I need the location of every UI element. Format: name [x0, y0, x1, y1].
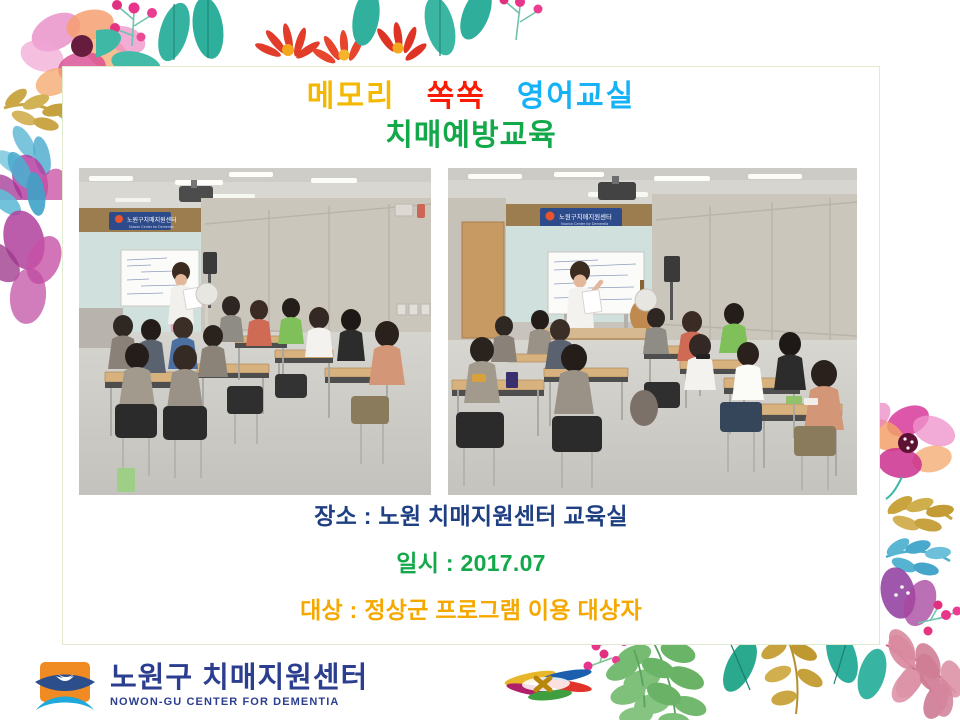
svg-text:Nowon Center for Dementia: Nowon Center for Dementia: [561, 222, 609, 226]
floral-decoration-top-band: [96, 0, 956, 72]
footer-logo: 노원구 치매지원센터 NOWON-GU CENTER FOR DEMENTIA: [34, 657, 368, 715]
classroom-photo-left-image: 노원구치매지원센터 Nowon Center for Dementia: [79, 168, 431, 495]
title-word-english-class: 영어교실: [517, 80, 635, 113]
classroom-photo-right-image: 노원구치매지원센터 Nowon Center for Dementia: [448, 168, 857, 495]
poster-title: 메모리 쏙쏙 영어교실: [63, 79, 879, 116]
info-line-place: 장소 : 노원 치매지원센터 교육실: [63, 505, 879, 528]
title-word-memory: 메모리: [307, 80, 396, 113]
svg-text:노원구치매지원센터: 노원구치매지원센터: [559, 212, 612, 221]
nowon-center-logo-icon: [34, 660, 96, 712]
classroom-photo-left: 노원구치매지원센터 Nowon Center for Dementia: [79, 168, 431, 495]
footer-logo-korean: 노원구 치매지원센터: [110, 664, 368, 693]
svg-text:노원구치매지원센터: 노원구치매지원센터: [127, 216, 177, 224]
poster-subtitle: 치매예방교육: [63, 118, 879, 155]
poster-canvas: 메모리 쏙쏙 영어교실 치매예방교육: [0, 0, 960, 720]
classroom-photo-right: 노원구치매지원센터 Nowon Center for Dementia: [448, 168, 857, 495]
photo-row: 노원구치매지원센터 Nowon Center for Dementia: [79, 168, 865, 495]
info-line-date: 일시 : 2017.07: [63, 552, 879, 575]
info-line-target: 대상 : 정상군 프로그램 이용 대상자: [63, 599, 879, 622]
title-word-ssoksok: 쏙쏙: [427, 80, 486, 113]
poster-content-frame: 메모리 쏙쏙 영어교실 치매예방교육: [62, 66, 880, 645]
floral-decoration-left: [0, 150, 66, 410]
title-block: 메모리 쏙쏙 영어교실 치매예방교육: [63, 67, 879, 154]
info-block: 장소 : 노원 치매지원센터 교육실 일시 : 2017.07 대상 : 정상군…: [63, 505, 879, 646]
footer-logo-text: 노원구 치매지원센터 NOWON-GU CENTER FOR DEMENTIA: [110, 664, 368, 708]
footer-logo-english: NOWON-GU CENTER FOR DEMENTIA: [110, 697, 368, 708]
nowon-gu-district-emblem-icon: [500, 662, 596, 706]
svg-text:Nowon Center for Dementia: Nowon Center for Dementia: [129, 225, 174, 229]
